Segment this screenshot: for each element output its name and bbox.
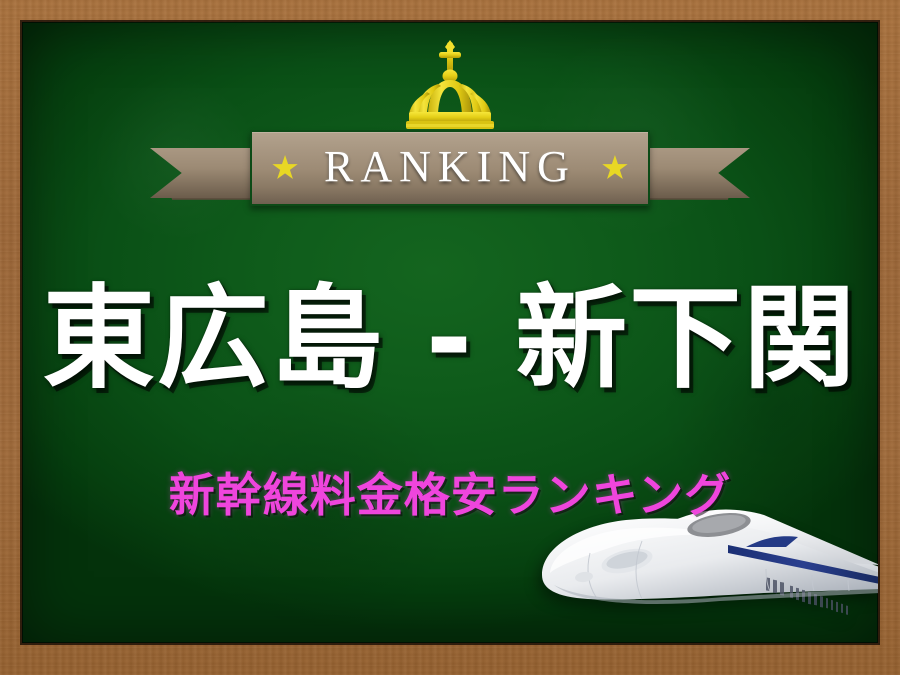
page-title: 東広島 - 新下関 — [22, 280, 878, 399]
ranking-label: RANKING — [324, 145, 576, 192]
crown-icon-container — [22, 40, 878, 132]
star-icon-left — [272, 155, 298, 181]
page-subtitle: 新幹線料金格安ランキング — [22, 470, 878, 521]
poster-frame: RANKING 東広島 - 新下関 新幹線料金格安ランキング — [0, 0, 900, 675]
crown-icon — [397, 40, 503, 132]
chalkboard-panel: RANKING 東広島 - 新下関 新幹線料金格安ランキング — [22, 22, 878, 643]
ribbon-band-content: RANKING — [272, 145, 628, 192]
ranking-ribbon: RANKING — [22, 128, 878, 210]
ribbon-band: RANKING — [250, 130, 650, 206]
star-icon-right — [602, 155, 628, 181]
